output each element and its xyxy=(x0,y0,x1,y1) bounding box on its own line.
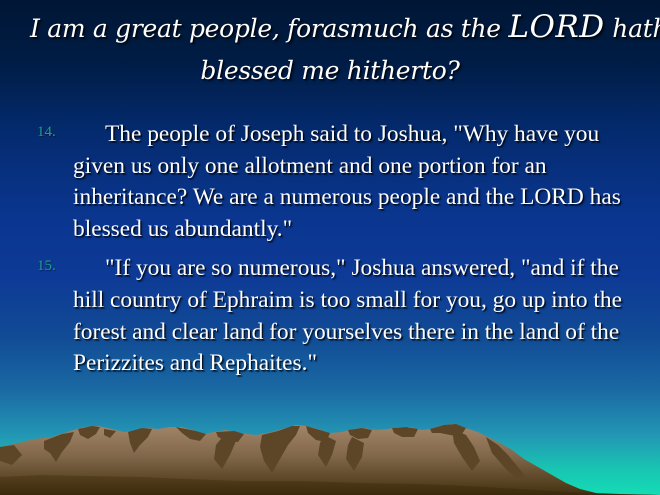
slide-canvas: I am a great people, forasmuch as the LO… xyxy=(0,0,660,495)
title-text-after-lord: hath xyxy=(605,14,660,43)
verse-number: 15. xyxy=(37,258,56,275)
verse-number: 14. xyxy=(37,124,56,141)
title-line-2: blessed me hitherto? xyxy=(30,52,630,90)
verse-text: "If you are so numerous," Joshua answere… xyxy=(73,253,630,379)
slide-title: I am a great people, forasmuch as the LO… xyxy=(30,8,630,90)
mountain-silhouette-decoration xyxy=(0,415,660,495)
title-line-1: I am a great people, forasmuch as the LO… xyxy=(30,8,630,48)
list-item: 15. "If you are so numerous," Joshua ans… xyxy=(0,253,660,379)
verse-text: The people of Joseph said to Joshua, "Wh… xyxy=(73,119,630,245)
verse-list: 14. The people of Joseph said to Joshua,… xyxy=(0,119,660,388)
title-lord-word: LORD xyxy=(508,9,604,45)
title-text-before-lord: I am a great people, forasmuch as the xyxy=(30,14,508,43)
list-item: 14. The people of Joseph said to Joshua,… xyxy=(0,119,660,245)
